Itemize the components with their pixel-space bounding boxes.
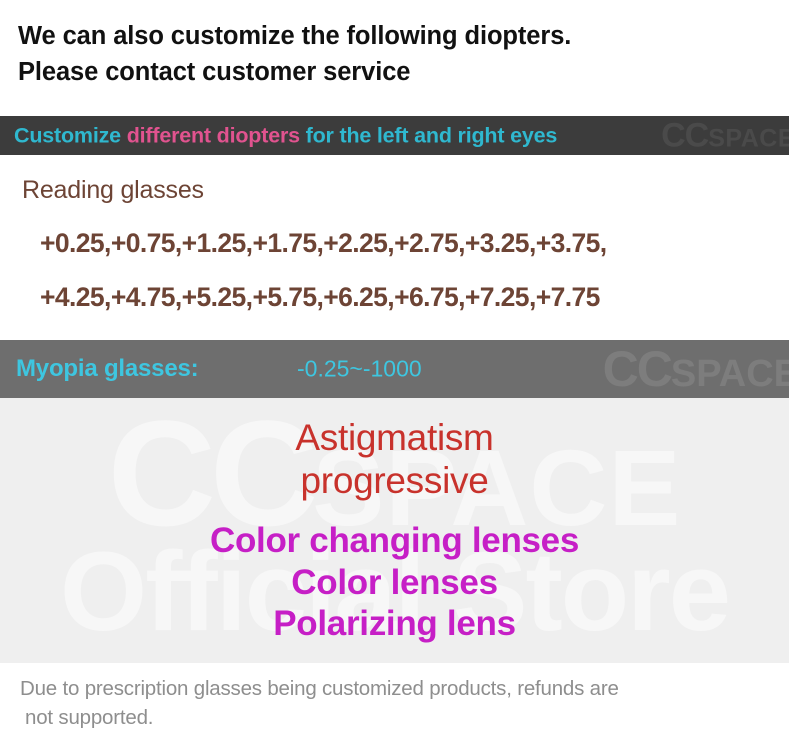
customize-diopters-segment-1: Customize	[14, 123, 127, 147]
ccspace-watermark-banner-sub: SPACE	[708, 124, 789, 152]
customize-diopters-banner: CCSPACE Customize different diopters for…	[0, 116, 789, 155]
myopia-glasses-label: Myopia glasses:	[16, 355, 198, 383]
reading-diopter-row-1: +0.25,+0.75,+1.25,+1.75,+2.25,+2.75,+3.2…	[40, 228, 607, 259]
refund-disclaimer-line-2: not supported.	[20, 703, 789, 732]
lens-option-astigmatism: Astigmatism	[0, 418, 789, 457]
lens-option-color-lenses: Color lenses	[0, 564, 789, 601]
ccspace-watermark-banner-main: CC	[661, 116, 708, 154]
refund-disclaimer-line-1: Due to prescription glasses being custom…	[20, 674, 789, 703]
ccspace-watermark-myopia-sub: SPACE	[671, 353, 789, 395]
refund-disclaimer-section: Due to prescription glasses being custom…	[0, 663, 789, 733]
lens-option-color-changing: Color changing lenses	[0, 522, 789, 559]
ccspace-watermark-myopia-main: CC	[603, 341, 671, 397]
intro-section: We can also customize the following diop…	[0, 0, 789, 116]
lens-option-polarizing: Polarizing lens	[0, 605, 789, 642]
ccspace-watermark-banner: CCSPACE	[661, 116, 789, 155]
reading-glasses-section: Reading glasses +0.25,+0.75,+1.25,+1.75,…	[0, 155, 789, 340]
lens-option-progressive: progressive	[0, 461, 789, 500]
lens-options-list: Astigmatism progressive Color changing l…	[0, 398, 789, 642]
lens-options-section: CCSPACE Official Store Astigmatism progr…	[0, 398, 789, 663]
product-description-image: We can also customize the following diop…	[0, 0, 789, 733]
myopia-glasses-banner: CCSPACE Myopia glasses: -0.25~-1000	[0, 340, 789, 398]
intro-line-2: Please contact customer service	[18, 54, 789, 90]
reading-glasses-title: Reading glasses	[22, 176, 204, 205]
customize-diopters-segment-2: different diopters	[127, 123, 300, 147]
customize-diopters-segment-3: for the left and right eyes	[300, 123, 557, 147]
myopia-glasses-range: -0.25~-1000	[297, 356, 422, 383]
customize-diopters-text: Customize different diopters for the lef…	[14, 123, 557, 148]
ccspace-watermark-myopia: CCSPACE	[603, 340, 789, 398]
intro-line-1: We can also customize the following diop…	[18, 18, 789, 54]
reading-diopter-row-2: +4.25,+4.75,+5.25,+5.75,+6.25,+6.75,+7.2…	[40, 282, 600, 313]
